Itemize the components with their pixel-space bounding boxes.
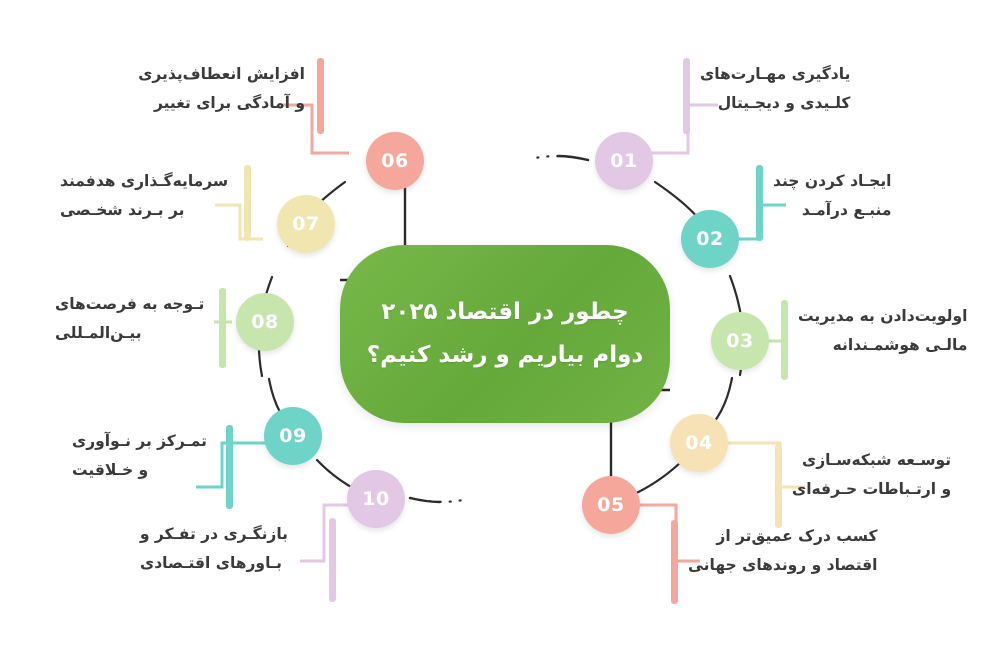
label-10-line-1: بازنگـری در تفـکر و — [140, 520, 288, 549]
dashed-tail-top-solid — [558, 156, 588, 160]
accent-bar-05 — [671, 520, 678, 604]
label-10: بازنگـری در تفـکر و بـاورهای اقتـصادی — [140, 520, 288, 577]
label-02: ایجـاد کردن چند منبـع درآمـد — [773, 167, 891, 224]
dashed-tail-bottom — [410, 498, 468, 502]
label-01-line-2: کلـیدی و دیجـیتال — [700, 89, 850, 118]
infographic-canvas: 01 02 03 04 05 06 07 08 09 10 چطور در اق… — [0, 0, 1000, 666]
node-circle-04[interactable]: 04 — [670, 414, 728, 472]
label-06-line-1: افزایش انعطاف‌پذیری — [165, 60, 305, 89]
label-09: تمـرکز بر نـوآوری و خـلاقیت — [72, 427, 212, 484]
label-01: یادگیری مهـارت‌های کلـیدی و دیجـیتال — [700, 60, 850, 117]
center-title-line-2: دوام بیاریم و رشد کنیم؟ — [367, 341, 643, 370]
label-03-line-1: اولویت‌دادن به مدیریت — [798, 302, 967, 331]
label-08: تـوجه به فرصت‌های بیـن‌المـللی — [55, 290, 207, 347]
accent-bar-10 — [329, 518, 336, 602]
label-07: سرمایه‌گـذاری هدفمند بر بـرند شخـصی — [60, 167, 235, 224]
node-circle-05[interactable]: 05 — [582, 476, 640, 534]
accent-bar-03 — [781, 300, 788, 380]
label-04-line-2: و ارتـباطات حـرفه‌ای — [792, 475, 951, 504]
label-09-line-2: و خـلاقیت — [72, 456, 212, 485]
node-circle-02[interactable]: 02 — [681, 210, 739, 268]
label-03: اولویت‌دادن به مدیریت مالـی هوشمـندانه — [798, 302, 967, 359]
node-circle-10[interactable]: 10 — [347, 470, 405, 528]
node-circle-07[interactable]: 07 — [277, 195, 335, 253]
label-08-line-2: بیـن‌المـللی — [55, 319, 207, 348]
label-02-line-2: منبـع درآمـد — [773, 196, 891, 225]
node-circle-08[interactable]: 08 — [236, 293, 294, 351]
label-07-line-1: سرمایه‌گـذاری هدفمند — [60, 167, 235, 196]
node-circle-06[interactable]: 06 — [366, 132, 424, 190]
accent-bar-09 — [226, 425, 233, 509]
label-02-line-1: ایجـاد کردن چند — [773, 167, 891, 196]
label-04-line-1: توسـعه شبکه‌سـازی — [792, 446, 951, 475]
node-circle-03[interactable]: 03 — [711, 312, 769, 370]
dashed-tail-bottom-solid — [410, 498, 440, 502]
accent-bar-06 — [317, 58, 324, 134]
center-question-card: چطور در اقتصاد ۲۰۲۵ دوام بیاریم و رشد کن… — [340, 245, 670, 423]
label-07-line-2: بر بـرند شخـصی — [60, 196, 235, 225]
label-06: افزایش انعطاف‌پذیری و آمادگی برای تغییر — [165, 60, 305, 117]
label-03-line-2: مالـی هوشمـندانه — [798, 331, 967, 360]
node-circle-09[interactable]: 09 — [264, 407, 322, 465]
center-title-line-1: چطور در اقتصاد ۲۰۲۵ — [381, 298, 628, 327]
label-05: کسب درک عمیق‌تر از اقتصاد و روندهای جهان… — [688, 522, 878, 579]
dashed-tail-top — [530, 156, 588, 160]
accent-bar-04 — [775, 444, 782, 528]
label-01-line-1: یادگیری مهـارت‌های — [700, 60, 850, 89]
label-10-line-2: بـاورهای اقتـصادی — [140, 549, 288, 578]
label-06-line-2: و آمادگی برای تغییر — [165, 89, 305, 118]
label-04: توسـعه شبکه‌سـازی و ارتـباطات حـرفه‌ای — [792, 446, 951, 503]
accent-bar-08 — [219, 288, 226, 368]
label-05-line-2: اقتصاد و روندهای جهانی — [688, 551, 878, 580]
label-08-line-1: تـوجه به فرصت‌های — [55, 290, 207, 319]
accent-bar-01 — [683, 58, 690, 134]
label-05-line-1: کسب درک عمیق‌تر از — [688, 522, 878, 551]
accent-bar-02 — [756, 165, 763, 241]
accent-bar-07 — [244, 165, 251, 241]
node-circle-01[interactable]: 01 — [595, 132, 653, 190]
label-09-line-1: تمـرکز بر نـوآوری — [72, 427, 212, 456]
